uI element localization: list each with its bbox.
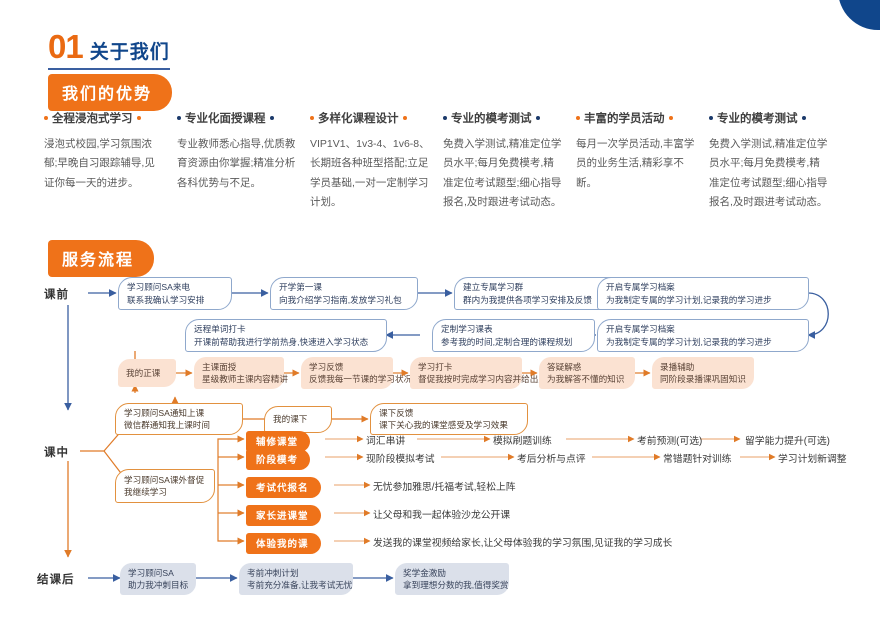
- flow-node: 学习顾问SA课外督促 我继续学习: [115, 469, 215, 503]
- flow-node: 答疑解惑 为我解答不懂的知识: [539, 357, 635, 389]
- flow-node: 学习打卡 督促我按时完成学习内容并给出点评建议: [410, 357, 522, 389]
- section-number: 01: [48, 28, 83, 66]
- node-line-2: 为我制定专属的学习计划,记录我的学习进步: [606, 336, 800, 348]
- step-text: 常错题针对训练: [663, 451, 732, 465]
- advantage-body: 每月一次学员活动,丰富学员的业务生活,精彩享不断。: [576, 135, 696, 193]
- node-line-1: 开学第一课: [279, 281, 409, 293]
- advantage-body: 专业教师悉心指导,优质教育资源由你掌握;精准分析各科优势与不足。: [177, 135, 297, 193]
- flow-node: 主课面授 星级教师主课内容精讲: [194, 357, 284, 389]
- advantage-card: 专业的模考测试 免费入学测试,精准定位学员水平;每月免费模考,精准定位考试题型;…: [709, 110, 842, 213]
- node-line-1: 学习反馈: [309, 361, 385, 373]
- advantage-title: 全程浸泡式学习: [52, 110, 133, 126]
- flow-node: 我的正课: [118, 359, 176, 387]
- node-line-1: 答疑解惑: [547, 361, 627, 373]
- step-text: 无忧参加雅思/托福考试,轻松上阵: [373, 479, 516, 493]
- flow-node: 考前冲刺计划 考前充分准备,让我考试无忧: [239, 563, 353, 595]
- flow-node: 学习反馈 反馈我每一节课的学习状况: [301, 357, 393, 389]
- flow-node: 开启专属学习档案 为我制定专属的学习计划,记录我的学习进步: [597, 277, 809, 310]
- node-line-1: 我的正课: [126, 367, 168, 379]
- node-line-1: 录播辅助: [660, 361, 746, 373]
- advantage-card: 丰富的学员活动 每月一次学员活动,丰富学员的业务生活,精彩享不断。: [576, 110, 709, 213]
- node-line-2: 星级教师主课内容精讲: [202, 373, 276, 385]
- page-root: 01 关于我们 我们的优势 全程浸泡式学习 浸泡式校园,学习氛围浓郁;早晚自习跟…: [0, 0, 880, 623]
- step-text: 现阶段模拟考试: [366, 451, 435, 465]
- step-text: 词汇串讲: [366, 433, 405, 447]
- node-line-2: 课下关心我的课堂感受及学习效果: [379, 419, 519, 431]
- flow-node: 学习顾问SA 助力我冲刺目标: [120, 563, 196, 595]
- flow-node: 录播辅助 同阶段录播课巩固知识: [652, 357, 754, 389]
- node-line-2: 我继续学习: [124, 486, 206, 498]
- advantage-card: 多样化课程设计 VIP1V1、1v3-4、1v6-8、长期班各种班型搭配;立足学…: [310, 110, 443, 213]
- flow-node: 远程单词打卡 开课前帮助我进行学前热身,快速进入学习状态: [185, 319, 387, 352]
- chip-tag[interactable]: 阶段模考: [246, 449, 310, 470]
- node-line-2: 拿到理想分数的我,值得奖赏: [403, 579, 501, 591]
- stage-label-after: 结课后: [37, 571, 75, 587]
- node-line-1: 定制学习课表: [441, 323, 586, 335]
- advantage-title: 多样化课程设计: [318, 110, 399, 126]
- flow-node: 我的课下: [264, 406, 332, 433]
- header-divider: [48, 68, 170, 70]
- page-title: 关于我们: [90, 37, 170, 64]
- process-flow-diagram: 课前 课中 结课后 学习顾问SA来电 联系我确认学习安排 开学第一课 向我介绍学…: [0, 235, 880, 623]
- node-line-2: 为我解答不懂的知识: [547, 373, 627, 385]
- node-line-2: 同阶段录播课巩固知识: [660, 373, 746, 385]
- advantage-title: 专业的模考测试: [451, 110, 532, 126]
- node-line-1: 主课面授: [202, 361, 276, 373]
- step-text: 考前预测(可选): [637, 433, 702, 447]
- bullet-dot-icon: [310, 116, 314, 120]
- stage-label-before: 课前: [44, 286, 69, 302]
- chip-tag[interactable]: 考试代报名: [246, 477, 321, 498]
- node-line-2: 开课前帮助我进行学前热身,快速进入学习状态: [194, 336, 378, 348]
- node-line-1: 奖学金激励: [403, 567, 501, 579]
- chip-tag[interactable]: 家长进课堂: [246, 505, 321, 526]
- node-line-2: 为我制定专属的学习计划,记录我的学习进步: [606, 294, 800, 306]
- corner-decoration: [838, 0, 880, 30]
- advantage-title-row: 丰富的学员活动: [576, 110, 709, 126]
- advantages-tag-label: 我们的优势: [48, 74, 172, 111]
- node-line-1: 学习顾问SA来电: [127, 281, 223, 293]
- bullet-dot-icon: [44, 116, 48, 120]
- advantage-card: 专业的模考测试 免费入学测试,精准定位学员水平;每月免费模考,精准定位考试题型;…: [443, 110, 576, 213]
- node-line-2: 考前充分准备,让我考试无忧: [247, 579, 345, 591]
- advantage-body: 免费入学测试,精准定位学员水平;每月免费模考,精准定位考试题型;细心指导报名,及…: [709, 135, 829, 213]
- bullet-dot-icon: [403, 116, 407, 120]
- node-line-2: 督促我按时完成学习内容并给出点评建议: [418, 373, 514, 385]
- step-text: 模拟刷题训练: [493, 433, 552, 447]
- advantage-body: 免费入学测试,精准定位学员水平;每月免费模考,精准定位考试题型;细心指导报名,及…: [443, 135, 563, 213]
- advantage-card: 全程浸泡式学习 浸泡式校园,学习氛围浓郁;早晚自习跟踪辅导,见证你每一天的进步。: [44, 110, 177, 213]
- step-text: 发送我的课堂视频给家长,让父母体验我的学习氛围,见证我的学习成长: [373, 535, 672, 549]
- bullet-dot-icon: [709, 116, 713, 120]
- advantage-title-row: 专业的模考测试: [443, 110, 576, 126]
- node-line-2: 助力我冲刺目标: [128, 579, 188, 591]
- flow-node: 学习顾问SA来电 联系我确认学习安排: [118, 277, 232, 310]
- node-line-1: 远程单词打卡: [194, 323, 378, 335]
- advantage-title: 专业化面授课程: [185, 110, 266, 126]
- stage-label-during: 课中: [44, 444, 69, 460]
- node-line-2: 参考我的时间,定制合理的课程规划: [441, 336, 586, 348]
- step-text: 留学能力提升(可选): [745, 433, 830, 447]
- flow-node: 奖学金激励 拿到理想分数的我,值得奖赏: [395, 563, 509, 595]
- step-text: 考后分析与点评: [517, 451, 586, 465]
- flow-node: 学习顾问SA通知上课 微信群通知我上课时间: [115, 403, 243, 435]
- bullet-dot-icon: [137, 116, 141, 120]
- advantage-title-row: 专业的模考测试: [709, 110, 842, 126]
- advantage-body: 浸泡式校园,学习氛围浓郁;早晚自习跟踪辅导,见证你每一天的进步。: [44, 135, 164, 193]
- node-line-1: 学习顾问SA课外督促: [124, 474, 206, 486]
- node-line-1: 学习打卡: [418, 361, 514, 373]
- advantage-title: 丰富的学员活动: [584, 110, 665, 126]
- node-line-1: 课下反馈: [379, 407, 519, 419]
- bullet-dot-icon: [177, 116, 181, 120]
- bullet-dot-icon: [802, 116, 806, 120]
- section-header: 01 关于我们: [48, 28, 170, 66]
- bullet-dot-icon: [270, 116, 274, 120]
- advantage-title-row: 多样化课程设计: [310, 110, 443, 126]
- node-line-1: 开启专属学习档案: [606, 323, 800, 335]
- advantage-title-row: 专业化面授课程: [177, 110, 310, 126]
- advantage-title-row: 全程浸泡式学习: [44, 110, 177, 126]
- advantage-body: VIP1V1、1v3-4、1v6-8、长期班各种班型搭配;立足学员基础,一对一定…: [310, 135, 430, 213]
- node-line-1: 我的课下: [273, 413, 323, 425]
- bullet-dot-icon: [536, 116, 540, 120]
- flow-node: 开启专属学习档案 为我制定专属的学习计划,记录我的学习进步: [597, 319, 809, 352]
- node-line-1: 考前冲刺计划: [247, 567, 345, 579]
- node-line-2: 微信群通知我上课时间: [124, 419, 234, 431]
- node-line-1: 学习顾问SA: [128, 567, 188, 579]
- node-line-1: 学习顾问SA通知上课: [124, 407, 234, 419]
- node-line-2: 反馈我每一节课的学习状况: [309, 373, 385, 385]
- advantage-card: 专业化面授课程 专业教师悉心指导,优质教育资源由你掌握;精准分析各科优势与不足。: [177, 110, 310, 213]
- node-line-2: 向我介绍学习指南,发放学习礼包: [279, 294, 409, 306]
- chip-tag[interactable]: 体验我的课: [246, 533, 321, 554]
- node-line-2: 联系我确认学习安排: [127, 294, 223, 306]
- bullet-dot-icon: [576, 116, 580, 120]
- bullet-dot-icon: [669, 116, 673, 120]
- flow-node: 开学第一课 向我介绍学习指南,发放学习礼包: [270, 277, 418, 310]
- bullet-dot-icon: [443, 116, 447, 120]
- node-line-1: 开启专属学习档案: [606, 281, 800, 293]
- advantages-grid: 全程浸泡式学习 浸泡式校园,学习氛围浓郁;早晚自习跟踪辅导,见证你每一天的进步。…: [44, 110, 844, 213]
- flow-node: 课下反馈 课下关心我的课堂感受及学习效果: [370, 403, 528, 435]
- flow-node: 定制学习课表 参考我的时间,定制合理的课程规划: [432, 319, 595, 352]
- step-text: 让父母和我一起体验沙龙公开课: [373, 507, 510, 521]
- step-text: 学习计划新调整: [778, 451, 847, 465]
- advantage-title: 专业的模考测试: [717, 110, 798, 126]
- advantages-tag: 我们的优势: [48, 74, 172, 111]
